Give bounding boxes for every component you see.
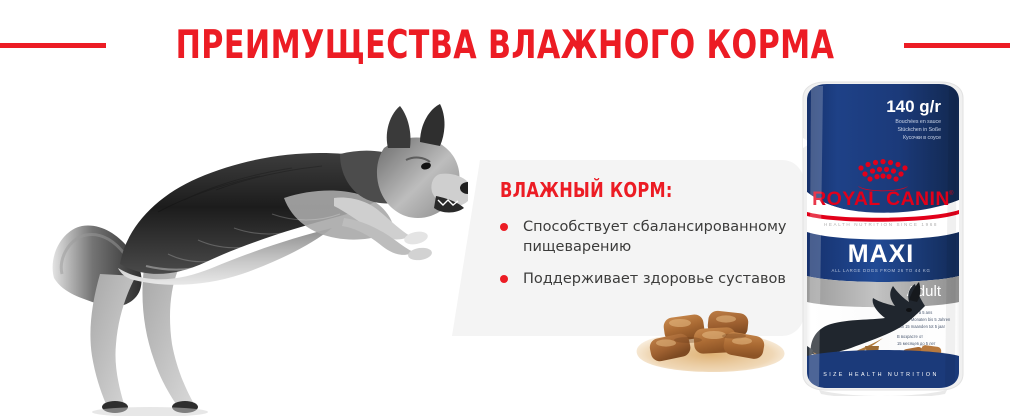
pouch-size-tagline: ALL LARGE DOGS FROM 26 TO 44 KG	[832, 268, 931, 273]
wet-food-benefits-banner: ПРЕИМУЩЕСТВА ВЛАЖНОГО КОРМА	[0, 0, 1010, 416]
list-item: Способствует сбалансированному пищеварен…	[500, 218, 790, 257]
pouch-size-name: MAXI	[848, 240, 915, 268]
bullet-dot-icon	[500, 275, 508, 283]
title-rule-left	[0, 43, 106, 48]
banner-title-row: ПРЕИМУЩЕСТВА ВЛАЖНОГО КОРМА	[0, 18, 1010, 72]
pouch-weight-sub-1: Bouchées en sauce	[895, 119, 941, 125]
page-title: ПРЕИМУЩЕСТВА ВЛАЖНОГО КОРМА	[176, 26, 835, 65]
pouch-weight-sub-3: Кусочки в соусе	[903, 135, 941, 141]
svg-text:15 месяцев до 5 лет: 15 месяцев до 5 лет	[897, 341, 936, 346]
jumping-dog-photo	[48, 78, 468, 416]
list-item: Поддерживает здоровье суставов	[500, 270, 790, 290]
pouch-footer: SIZE HEALTH NUTRITION	[823, 372, 939, 378]
pouch-weight: 140 g/r	[886, 97, 941, 116]
panel-content: ВЛАЖНЫЙ КОРМ: Способствует сбалансирован…	[500, 178, 790, 303]
list-item-label: Способствует сбалансированному пищеварен…	[523, 219, 786, 255]
panel-heading: ВЛАЖНЫЙ КОРМ:	[500, 178, 761, 202]
pouch-weight-sub-2: Stückchen in Soße	[897, 127, 941, 133]
brand-tagline: HEALTH NUTRITION SINCE 1968	[824, 222, 938, 227]
royal-canin-maxi-adult-pouch: 140 g/r Bouchées en sauce Stückchen in S…	[789, 80, 974, 396]
food-chunks-in-gravy-image	[622, 300, 812, 380]
svg-text:Van 15 maanden tot 5 jaar: Van 15 maanden tot 5 jaar	[897, 324, 946, 329]
bullet-dot-icon	[500, 223, 508, 231]
brand-wordmark: ROYAL CANIN	[812, 188, 950, 210]
svg-text:В возрасте от: В возрасте от	[897, 334, 923, 339]
benefit-list: Способствует сбалансированному пищеварен…	[500, 218, 790, 290]
title-rule-right	[904, 43, 1010, 48]
list-item-label: Поддерживает здоровье суставов	[523, 271, 786, 287]
